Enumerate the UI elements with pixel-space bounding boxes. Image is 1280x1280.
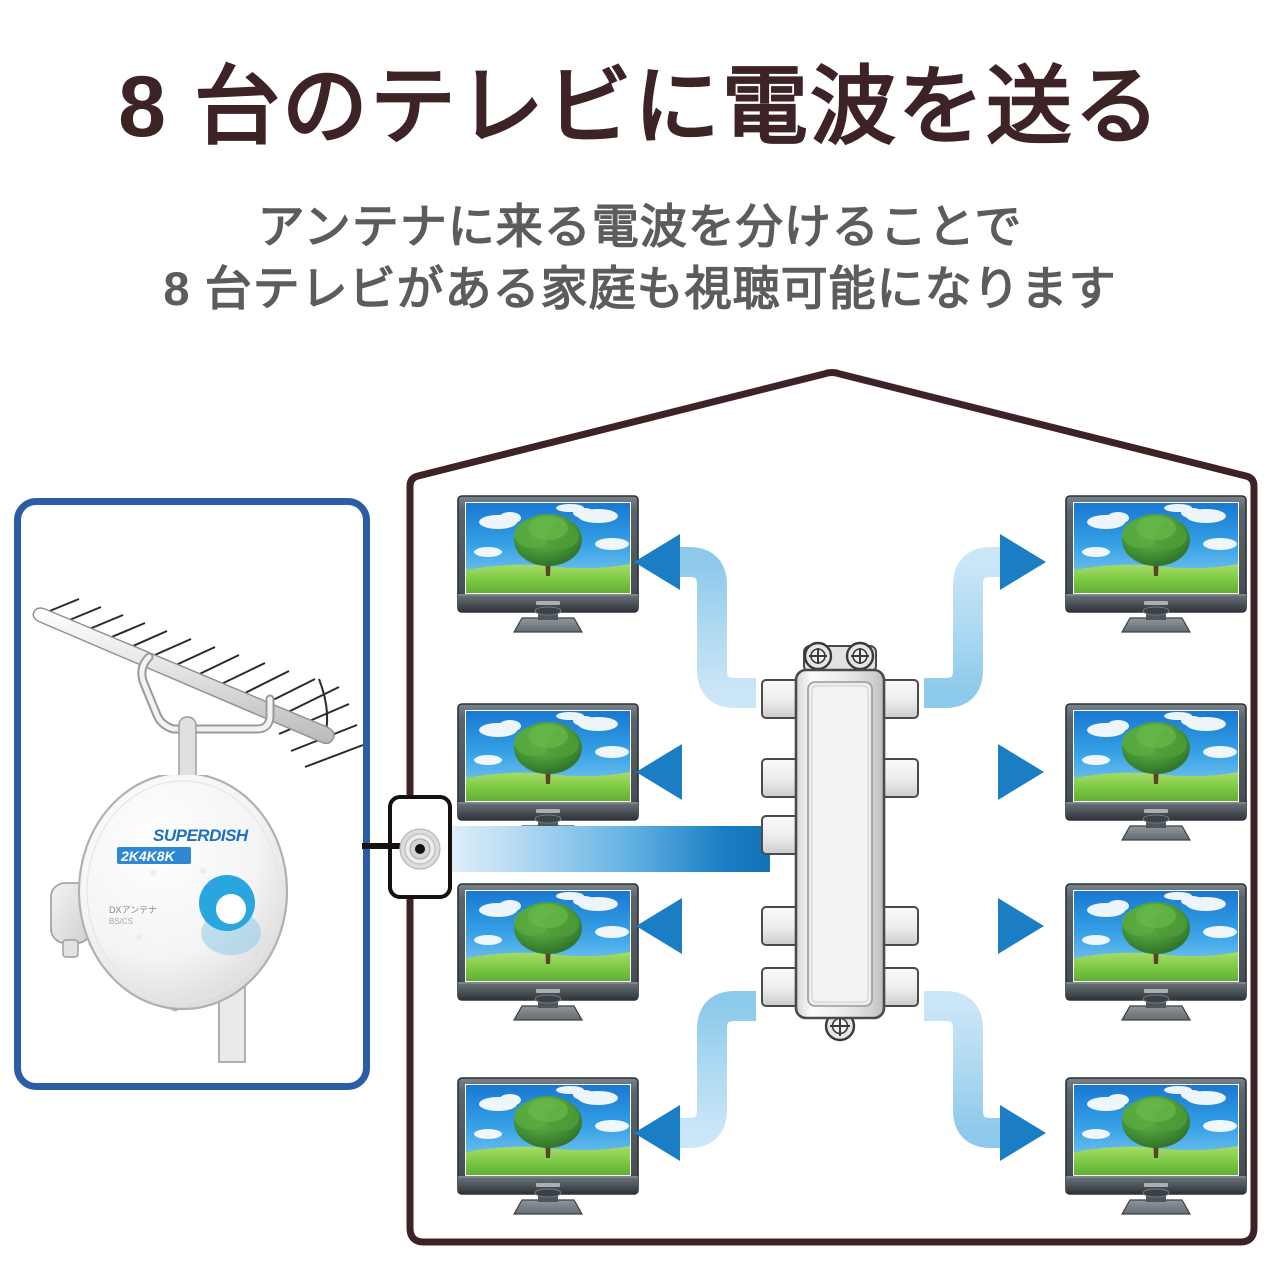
signal-splitter (756, 638, 924, 1042)
dish-maker-text: DXアンテナ (109, 905, 157, 915)
dish-resolution-badge: 2K4K8K (120, 848, 176, 864)
coaxial-connector-icon (399, 828, 441, 870)
antenna-inset-panel: SUPERDISH 2K4K8K DXアンテナ BS/CS (14, 498, 370, 1090)
tv-5 (1060, 492, 1252, 640)
tv-3 (452, 880, 644, 1028)
splitter-top-screws (804, 643, 876, 672)
dish-maker-sub: BS/CS (109, 917, 133, 926)
subtitle-line-2: 8 台テレビがある家庭も視聴可能になります (0, 258, 1280, 320)
tv-6 (1060, 700, 1252, 848)
yagi-antenna-icon (27, 529, 371, 799)
satellite-dish-icon: SUPERDISH 2K4K8K DXアンテナ BS/CS (35, 775, 365, 1075)
page-subtitle: アンテナに来る電波を分けることで 8 台テレビがある家庭も視聴可能になります (0, 196, 1280, 320)
subtitle-line-1: アンテナに来る電波を分けることで (0, 196, 1280, 258)
tv-8 (1060, 1074, 1252, 1222)
tv-4 (452, 1074, 644, 1222)
tv-1 (452, 492, 644, 640)
page-title: 8 台のテレビに電波を送る (0, 62, 1280, 152)
tv-7 (1060, 880, 1252, 1028)
antenna-feed-signal-beam (430, 826, 770, 872)
dish-brand-text: SUPERDISH (153, 826, 249, 845)
diagram-canvas: 8 台のテレビに電波を送る アンテナに来る電波を分けることで 8 台テレビがある… (0, 0, 1280, 1280)
